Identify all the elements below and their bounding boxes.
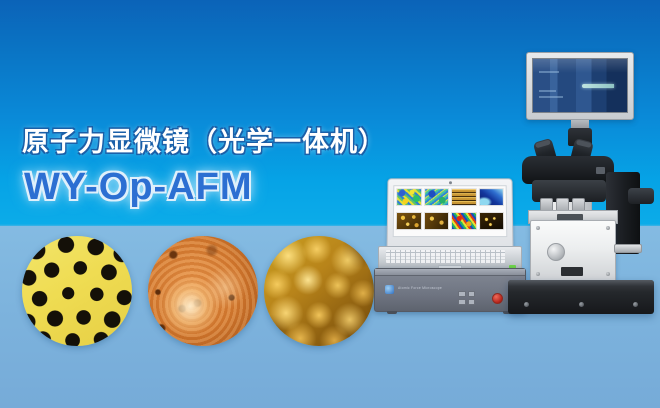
scan-caption	[451, 230, 477, 234]
screen-detail	[539, 90, 556, 92]
controller-port-panel	[458, 291, 475, 305]
scan-caption	[423, 230, 449, 234]
scan-caption	[396, 206, 422, 210]
scan-image	[396, 188, 422, 206]
scan-image	[478, 212, 504, 230]
afm-sample-spiral-growth	[148, 236, 258, 346]
panel-screw	[606, 272, 610, 276]
scan-thumbnail	[478, 212, 504, 234]
port-connector	[458, 291, 466, 297]
cantilever-probe-icon	[582, 84, 614, 88]
focus-knob	[628, 188, 654, 204]
scan-thumbnail	[451, 188, 476, 210]
scan-thumbnail	[396, 212, 422, 234]
scan-caption	[424, 206, 449, 210]
product-model-text: WY-Op-AFM	[24, 166, 253, 209]
scan-caption	[451, 206, 476, 210]
base-top-edge	[508, 280, 654, 286]
base-screw	[579, 302, 584, 307]
scanner-translation-rod	[614, 244, 642, 253]
base-screw	[633, 302, 638, 307]
scan-thumbnail	[451, 212, 477, 234]
scan-thumbnail	[423, 212, 449, 234]
base-screw	[524, 302, 529, 307]
scan-image	[396, 212, 422, 230]
controller-brand-label: Atomic Force Microscope	[398, 286, 442, 290]
screen-detail	[539, 96, 563, 98]
laptop-screen	[393, 185, 508, 237]
scan-thumbnail	[396, 188, 422, 210]
panel-screw	[536, 272, 540, 276]
scan-image	[451, 188, 476, 206]
eyepiece-cap	[535, 139, 551, 148]
afm-optical-microscope	[502, 52, 658, 332]
port-connector	[458, 299, 466, 305]
head-badge	[596, 167, 605, 174]
display-monitor	[526, 52, 634, 120]
scan-caption	[478, 206, 504, 210]
scan-image	[478, 188, 504, 206]
adjustment-dial	[547, 243, 565, 261]
laptop-lid	[387, 178, 514, 250]
scan-thumbnail	[478, 188, 504, 210]
panel-screw	[606, 226, 610, 230]
scanner-nameplate	[561, 267, 583, 276]
brand-logo-icon	[385, 285, 394, 294]
monitor-screen	[532, 58, 628, 113]
eyepiece-cap	[576, 140, 592, 148]
scan-image	[423, 212, 449, 230]
scan-thumbnail	[424, 188, 449, 210]
afm-scanner-head	[530, 220, 616, 282]
screen-detail	[539, 71, 560, 73]
scan-caption	[479, 230, 505, 234]
key-rows	[386, 250, 505, 263]
controller-foot	[387, 311, 397, 314]
scan-image	[451, 212, 477, 230]
product-banner: 原子力显微镜（光学一体机） WY-Op-AFM	[0, 0, 660, 408]
panel-screw	[536, 226, 540, 230]
page-title: 原子力显微镜（光学一体机）	[22, 120, 386, 159]
afm-sample-dot-array	[22, 236, 132, 346]
port-connector	[468, 299, 476, 305]
granite-base	[508, 280, 654, 314]
port-connector	[468, 291, 476, 297]
webcam-icon	[449, 181, 452, 184]
scan-caption	[396, 230, 422, 234]
scan-image	[424, 188, 449, 206]
afm-sample-granular	[264, 236, 374, 346]
